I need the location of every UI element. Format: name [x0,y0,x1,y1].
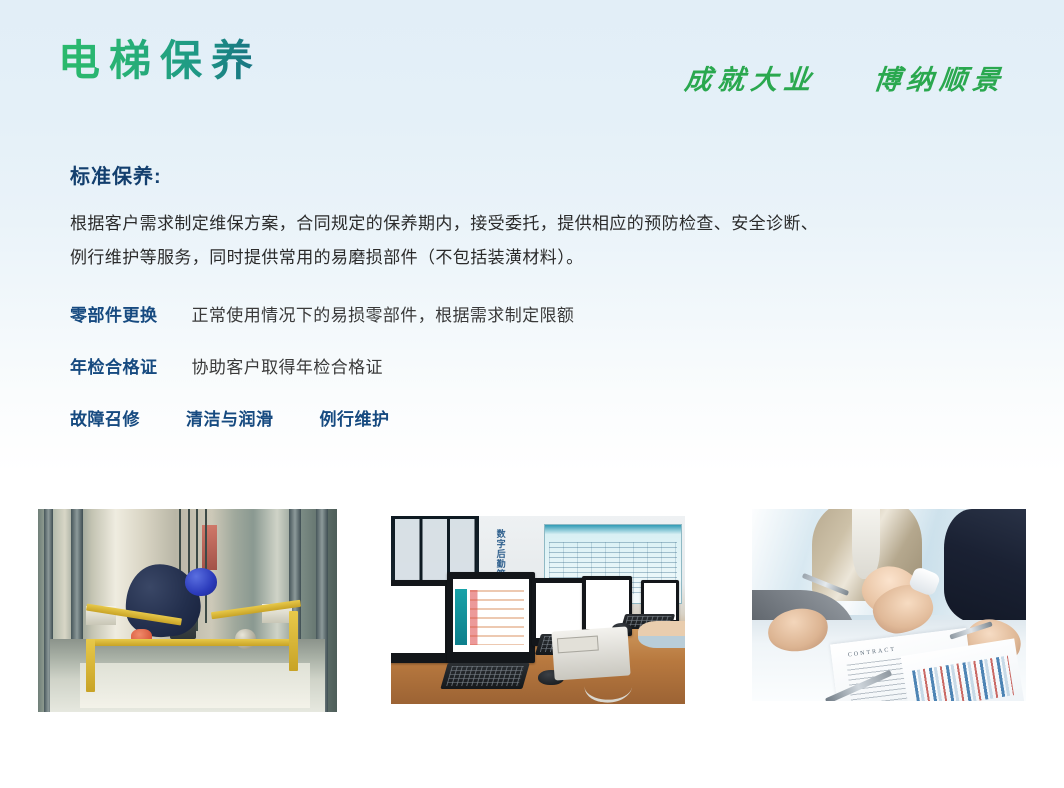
blue-hard-hat [185,568,218,596]
slide-canvas: 电梯保养 成就大业 博纳顺景 标准保养: 根据客户需求制定维保方案，合同规定的保… [0,0,1064,788]
photo-strip: 数字后勤管理 [0,0,1064,788]
monitor-1-screen [391,586,445,653]
control-room-scene: 数字后勤管理 [391,516,685,704]
keyboard-1 [440,663,530,689]
safety-railing-front [86,639,295,646]
person-right-dark-suit [944,509,1026,624]
control-room-photo: 数字后勤管理 [391,516,685,704]
monitor-2-screen [453,579,529,652]
car-top-plate [80,663,310,708]
handshake-scene: CONTRACT [752,509,1026,701]
safety-railing-post-left [86,639,95,692]
elevator-maintenance-photo [38,509,337,712]
monitor-2 [447,572,535,662]
operator-arm [638,621,685,647]
hoist-cable-4 [205,509,207,623]
contract-handshake-photo: CONTRACT [752,509,1026,701]
elevator-scene [38,509,337,712]
monitor-1 [391,580,450,663]
safety-railing-post-right [289,611,298,672]
